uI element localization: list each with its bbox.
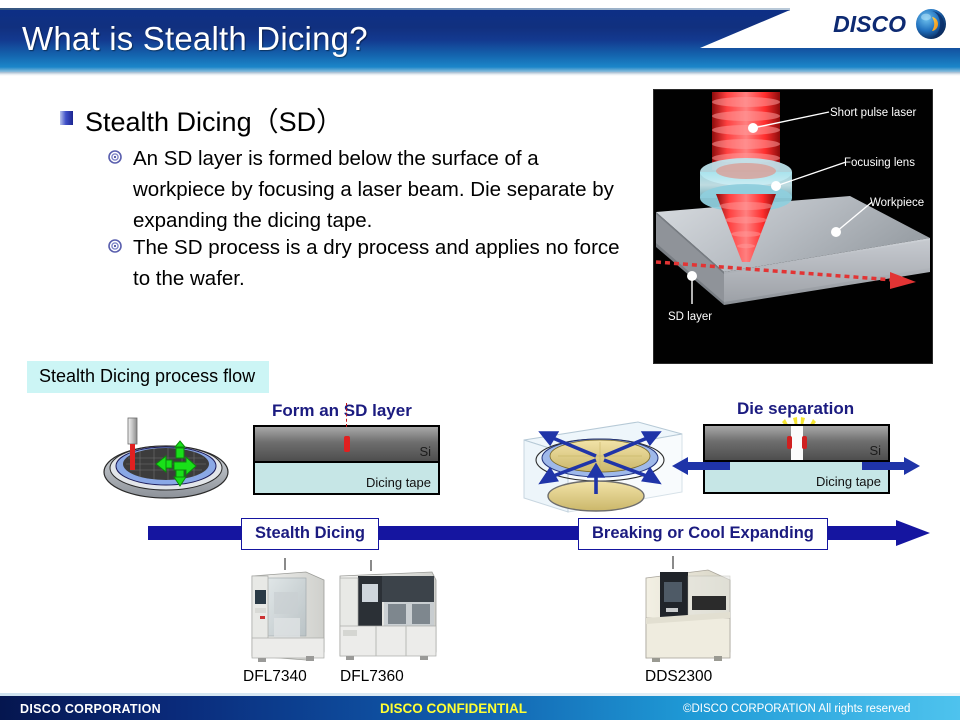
machine-photo-dfl7340	[244, 556, 330, 669]
spiral-bullet-icon	[108, 150, 122, 164]
footer-confidential: DISCO CONFIDENTIAL	[380, 701, 527, 716]
section-heading-label: Stealth Dicing（SD）	[85, 100, 343, 139]
stage-label-form-sd-layer: Form an SD layer	[272, 401, 412, 421]
machine-label-dds2300: DDS2300	[645, 668, 712, 686]
machine-photo-dds2300	[642, 556, 734, 669]
disco-globe-icon	[915, 8, 947, 40]
dicing-tape-layer: Dicing tape	[705, 462, 888, 492]
slide-root: What is Stealth Dicing? DISCO	[0, 0, 960, 720]
bullet-text: An SD layer is formed below the surface …	[133, 143, 628, 236]
machine-photo-dfl7360	[336, 558, 440, 669]
sd-layer-marker	[344, 436, 350, 452]
laser-label-workpiece: Workpiece	[870, 197, 924, 209]
wafer-laser-illustration	[100, 414, 235, 507]
stealth-dicing-principle-image: Short pulse laser Focusing lens Workpiec…	[653, 89, 933, 364]
laser-label-focusing-lens: Focusing lens	[844, 157, 915, 169]
dicing-tape-layer: Dicing tape	[255, 463, 438, 493]
footer-copyright: ©DISCO CORPORATION All rights reserved	[683, 703, 910, 715]
die-separation-gap	[791, 426, 803, 460]
cool-expanding-illustration	[518, 416, 688, 519]
arrow-stage-stealth-dicing[interactable]: Stealth Dicing	[241, 518, 379, 550]
square-bullet-icon	[60, 111, 73, 125]
footer-company: DISCO CORPORATION	[20, 702, 161, 716]
tape-stretch-arrow-left	[672, 456, 730, 481]
laser-label-sd-layer: SD layer	[668, 311, 712, 323]
sd-leader-line	[346, 403, 348, 427]
disco-logo: DISCO	[833, 8, 947, 40]
bullet-item: An SD layer is formed below the surface …	[108, 143, 628, 236]
machine-label-dfl7340: DFL7340	[243, 668, 307, 686]
section-heading: Stealth Dicing（SD）	[60, 100, 343, 139]
cross-section-form-sd-layer: Si Dicing tape	[253, 425, 440, 495]
page-title: What is Stealth Dicing?	[22, 20, 368, 58]
process-flow-title: Stealth Dicing process flow	[27, 361, 269, 393]
dicing-tape-label: Dicing tape	[366, 475, 431, 490]
bullet-item: The SD process is a dry process and appl…	[108, 232, 628, 294]
tape-stretch-arrow-right	[862, 456, 920, 481]
disco-wordmark: DISCO	[833, 11, 906, 38]
laser-label-short-pulse-laser: Short pulse laser	[830, 107, 916, 119]
header-bottom-shadow	[0, 72, 960, 76]
spiral-bullet-icon	[108, 239, 122, 253]
arrow-stage-breaking-cool-expanding[interactable]: Breaking or Cool Expanding	[578, 518, 828, 550]
silicon-layer: Si	[705, 426, 888, 462]
machine-label-dfl7360: DFL7360	[340, 668, 404, 686]
bullet-text: The SD process is a dry process and appl…	[133, 232, 628, 294]
silicon-label: Si	[419, 444, 431, 459]
silicon-layer: Si	[255, 427, 438, 463]
slide-header: What is Stealth Dicing? DISCO	[0, 0, 960, 80]
